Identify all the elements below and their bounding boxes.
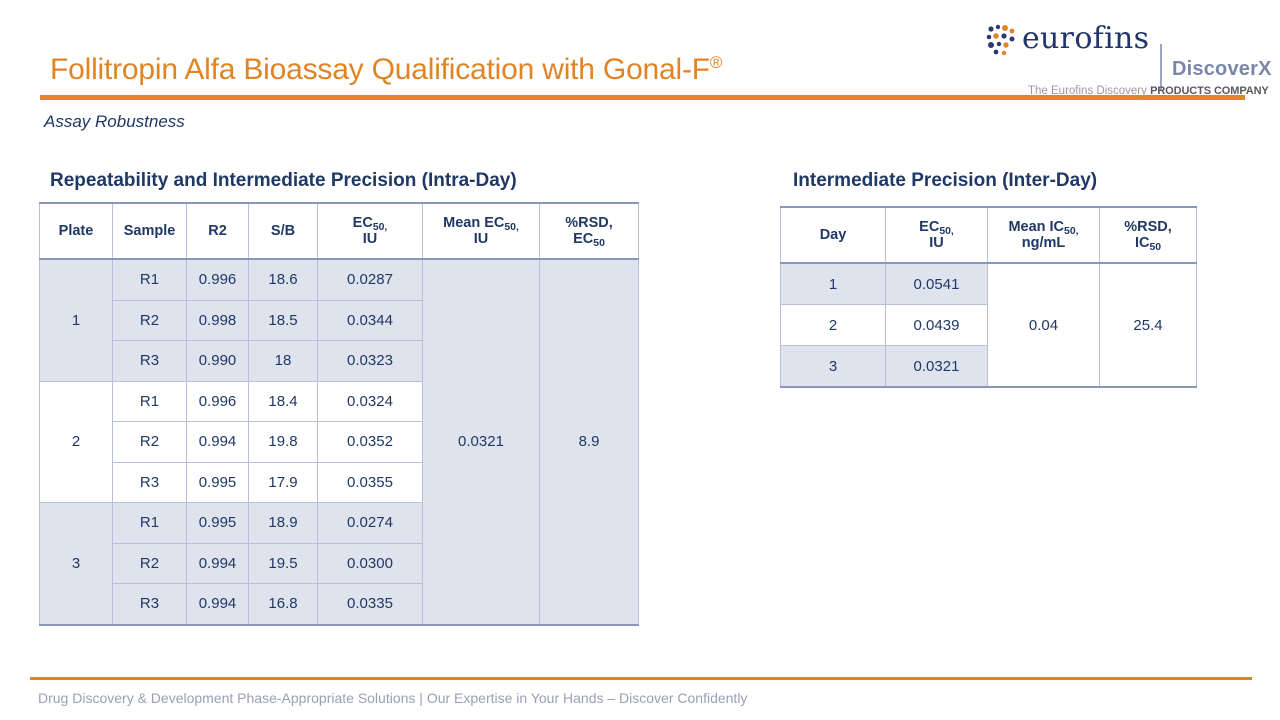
cell-ec50: 0.0352 [318,422,423,463]
page-title-text: Follitropin Alfa Bioassay Qualification … [50,53,710,86]
col-header-sb: S/B [249,203,318,259]
col-header-rsd-line2: IC [1135,235,1150,251]
cell-mean-ec50: 0.0321 [423,259,540,625]
col-header-ec50-sub: 50, [373,222,388,233]
interday-table-heading: Intermediate Precision (Inter-Day) [793,170,1097,192]
col-header-ec50: EC50, IU [886,207,988,263]
cell-day: 2 [781,305,886,346]
cell-ec50: 0.0287 [318,259,423,300]
cell-r2: 0.995 [187,462,249,503]
col-header-ec50-line1: EC [919,219,939,235]
col-header-mean-sub: 50, [504,222,519,233]
table-header-row: Day EC50, IU Mean IC50, ng/mL %RSD, IC50 [781,207,1197,263]
col-header-rsd-sub: 50 [1149,242,1161,253]
col-header-mean-line1: Mean EC [443,215,504,231]
table-row: 1R10.99618.60.02870.03218.9 [40,259,639,300]
col-header-rsd-line2: EC [573,231,593,247]
col-header-ec50-line2: IU [363,231,378,247]
col-header-mean-ec50: Mean EC50, IU [423,203,540,259]
cell-sb: 18.5 [249,300,318,341]
cell-sample: R2 [113,543,187,584]
cell-sample: R2 [113,300,187,341]
cell-sample: R1 [113,259,187,300]
col-header-mean-line2: ng/mL [1022,235,1066,251]
col-header-ec50: EC50, IU [318,203,423,259]
table-row: 10.05410.0425.4 [781,263,1197,305]
cell-plate: 3 [40,503,113,625]
cell-sb: 19.5 [249,543,318,584]
col-header-ec50-line1: EC [353,215,373,231]
col-header-rsd-line1: %RSD, [565,215,613,231]
cell-sb: 18.9 [249,503,318,544]
col-header-rsd-sub: 50 [593,238,605,249]
page-title: Follitropin Alfa Bioassay Qualification … [50,53,722,87]
cell-ec50: 0.0274 [318,503,423,544]
cell-sb: 18.4 [249,381,318,422]
eurofins-wordmark: eurofins [1022,21,1149,56]
cell-r2: 0.994 [187,584,249,625]
cell-sb: 17.9 [249,462,318,503]
col-header-mean-sub: 50, [1064,226,1079,237]
col-header-mean-line2: IU [474,231,489,247]
cell-ec50: 0.0335 [318,584,423,625]
logo-tagline: The Eurofins Discovery PRODUCTS COMPANY [1028,85,1269,97]
cell-plate: 1 [40,259,113,381]
cell-r2: 0.990 [187,341,249,382]
col-header-rsd-ic50: %RSD, IC50 [1100,207,1197,263]
cell-day: 3 [781,346,886,388]
intraday-table-heading: Repeatability and Intermediate Precision… [50,170,517,192]
cell-r2: 0.994 [187,422,249,463]
col-header-day: Day [781,207,886,263]
logo-tagline-strong: PRODUCTS COMPANY [1150,85,1269,97]
cell-sample: R3 [113,341,187,382]
cell-day: 1 [781,263,886,305]
registered-mark: ® [710,53,722,72]
intraday-table: Plate Sample R2 S/B EC50, IU Mean EC50, … [39,202,639,626]
cell-sb: 18 [249,341,318,382]
cell-sb: 19.8 [249,422,318,463]
logo-tagline-prefix: The Eurofins Discovery [1028,85,1150,97]
cell-ec50: 0.0344 [318,300,423,341]
col-header-plate: Plate [40,203,113,259]
cell-sample: R1 [113,503,187,544]
cell-r2: 0.995 [187,503,249,544]
col-header-sample: Sample [113,203,187,259]
logo-divider [1160,44,1162,90]
cell-rsd-ec50: 8.9 [540,259,639,625]
table-header-row: Plate Sample R2 S/B EC50, IU Mean EC50, … [40,203,639,259]
cell-ec50: 0.0324 [318,381,423,422]
cell-r2: 0.996 [187,381,249,422]
eurofins-dots-icon [985,24,1019,58]
cell-r2: 0.998 [187,300,249,341]
col-header-mean-ic50: Mean IC50, ng/mL [988,207,1100,263]
cell-sample: R1 [113,381,187,422]
cell-r2: 0.994 [187,543,249,584]
cell-sample: R3 [113,584,187,625]
eurofins-logo: eurofins DiscoverX The Eurofins Discover… [980,20,1250,95]
cell-ec50: 0.0323 [318,341,423,382]
col-header-r2: R2 [187,203,249,259]
cell-sb: 16.8 [249,584,318,625]
cell-sb: 18.6 [249,259,318,300]
col-header-ec50-line2: IU [929,235,944,251]
discoverx-brand: DiscoverX [1172,58,1272,81]
footer-divider [30,677,1252,680]
cell-sample: R2 [113,422,187,463]
col-header-rsd-line1: %RSD, [1124,219,1172,235]
cell-mean-ic50: 0.04 [988,263,1100,387]
cell-sample: R3 [113,462,187,503]
cell-ec50: 0.0439 [886,305,988,346]
cell-ec50: 0.0541 [886,263,988,305]
cell-rsd-ic50: 25.4 [1100,263,1197,387]
footer-text: Drug Discovery & Development Phase-Appro… [38,690,747,706]
cell-ec50: 0.0355 [318,462,423,503]
cell-ec50: 0.0321 [886,346,988,388]
col-header-rsd-ec50: %RSD, EC50 [540,203,639,259]
cell-ec50: 0.0300 [318,543,423,584]
col-header-ec50-sub: 50, [939,226,954,237]
col-header-mean-line1: Mean IC [1008,219,1064,235]
cell-plate: 2 [40,381,113,503]
section-label: Assay Robustness [44,112,185,132]
cell-r2: 0.996 [187,259,249,300]
interday-table: Day EC50, IU Mean IC50, ng/mL %RSD, IC50… [780,206,1197,388]
